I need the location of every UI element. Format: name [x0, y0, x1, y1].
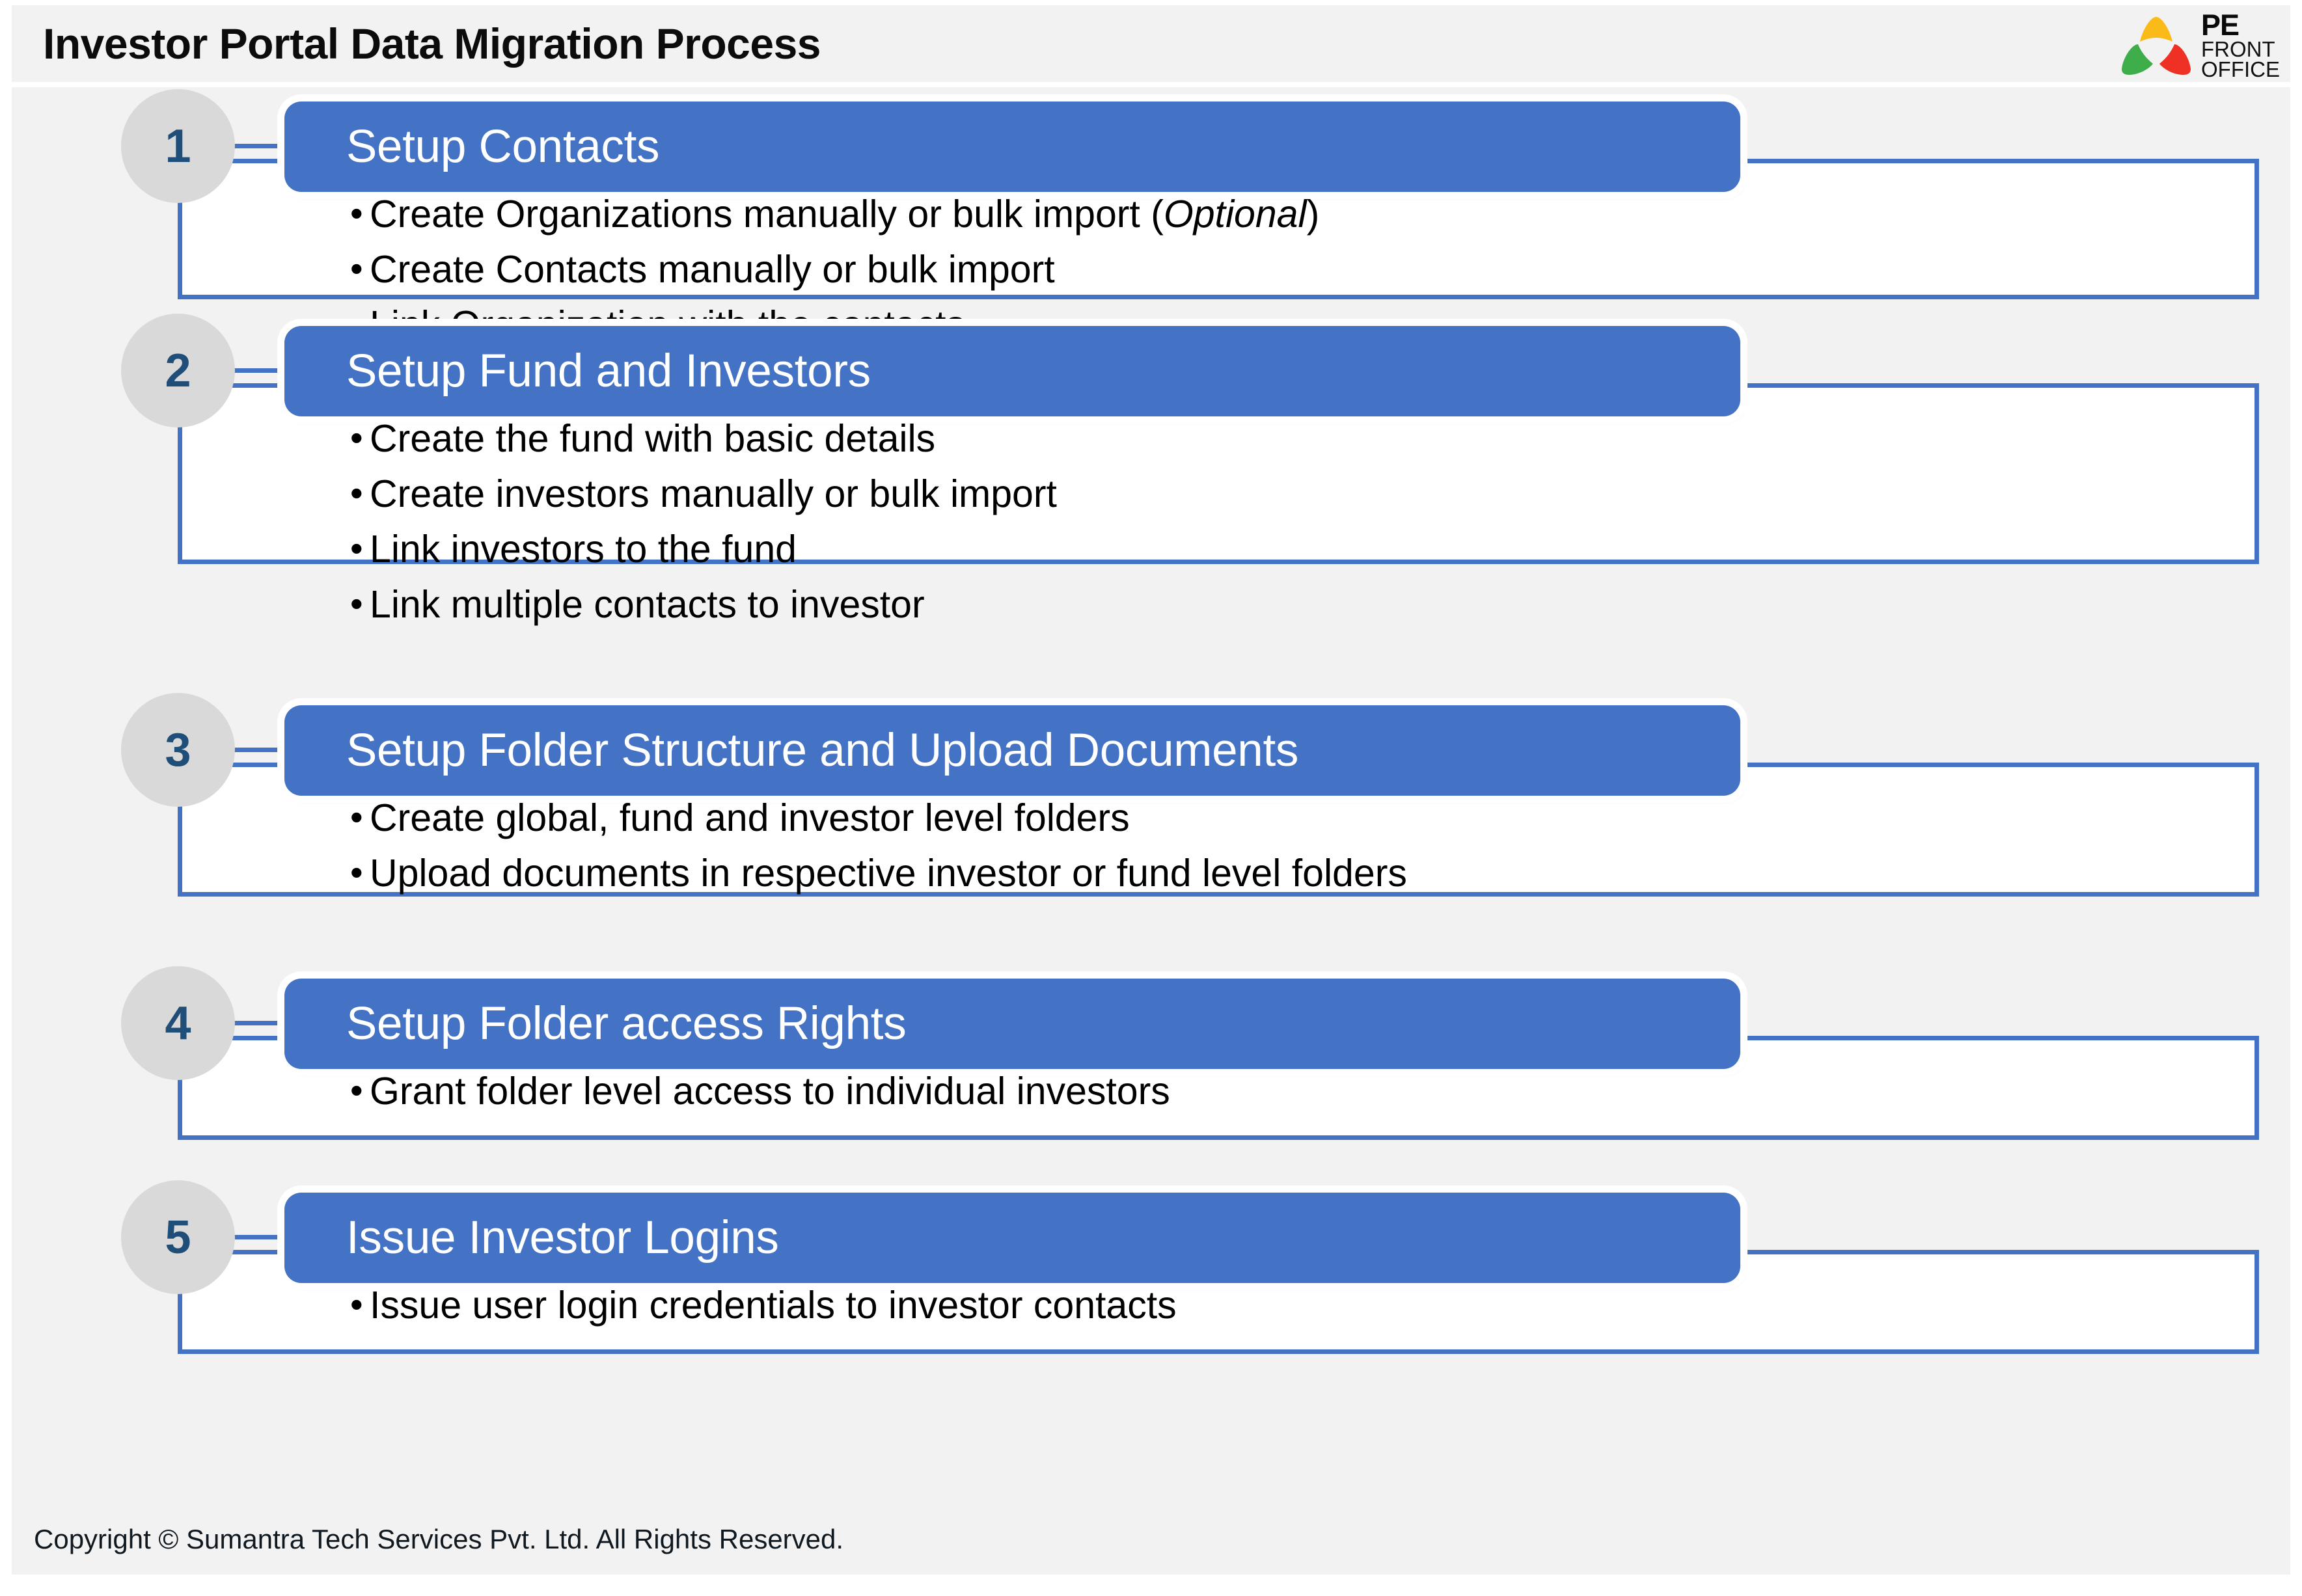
bullet-text: Create the fund with basic details	[370, 420, 935, 458]
step-2-number-badge: 2	[121, 314, 235, 427]
bullet-icon: •	[350, 1286, 370, 1323]
list-item: • Upload documents in respective investo…	[350, 854, 1407, 893]
step-1-number: 1	[165, 123, 191, 170]
step-3-number-badge: 3	[121, 693, 235, 807]
bullet-text: Link investors to the fund	[370, 530, 797, 569]
bullet-text: Upload documents in respective investor …	[370, 854, 1407, 893]
copyright-text: Copyright © Sumantra Tech Services Pvt. …	[34, 1524, 843, 1555]
list-item: • Grant folder level access to individua…	[350, 1072, 1170, 1111]
step-1-title: Setup Contacts	[284, 120, 659, 173]
list-item: • Link multiple contacts to investor	[350, 586, 1057, 624]
bullet-icon: •	[350, 530, 370, 567]
list-item: • Issue user login credentials to invest…	[350, 1286, 1177, 1325]
step-2-number: 2	[165, 347, 191, 394]
page-title: Investor Portal Data Migration Process	[43, 19, 821, 68]
step-3-number: 3	[165, 727, 191, 774]
step-4-number-badge: 4	[121, 966, 235, 1080]
step-4-title: Setup Folder access Rights	[284, 997, 906, 1050]
step-4-header-bar[interactable]: Setup Folder access Rights	[284, 979, 1740, 1069]
bullet-icon: •	[350, 799, 370, 835]
bullet-icon: •	[350, 195, 370, 232]
slide-canvas: Investor Portal Data Migration Process P…	[0, 0, 2302, 1596]
step-2-header-bar[interactable]: Setup Fund and Investors	[284, 326, 1740, 416]
step-5-bullet-list: • Issue user login credentials to invest…	[350, 1286, 1177, 1342]
list-item: • Create Contacts manually or bulk impor…	[350, 250, 1319, 289]
bullet-text: Issue user login credentials to investor…	[370, 1286, 1177, 1325]
bullet-icon: •	[350, 420, 370, 456]
step-4-number: 4	[165, 1000, 191, 1047]
logo-line-pe: PE	[2201, 12, 2280, 39]
step-5-number: 5	[165, 1214, 191, 1261]
bullet-text: Create Organizations manually or bulk im…	[370, 195, 1319, 234]
process-diagram: Setup Contacts 1 • Create Organizations …	[12, 87, 2290, 1504]
step-3-header-bar[interactable]: Setup Folder Structure and Upload Docume…	[284, 705, 1740, 796]
bullet-text: Link multiple contacts to investor	[370, 586, 925, 624]
bullet-icon: •	[350, 475, 370, 511]
step-3-title: Setup Folder Structure and Upload Docume…	[284, 724, 1298, 777]
logo-line-front: FRONT	[2201, 39, 2280, 59]
bullet-icon: •	[350, 1072, 370, 1109]
header-band: Investor Portal Data Migration Process P…	[12, 5, 2290, 82]
step-2-title: Setup Fund and Investors	[284, 345, 871, 398]
bullet-icon: •	[350, 586, 370, 622]
step-5-header-bar[interactable]: Issue Investor Logins	[284, 1193, 1740, 1283]
brand-logo: PE FRONT OFFICE	[2118, 9, 2280, 82]
step-1-header-bar[interactable]: Setup Contacts	[284, 101, 1740, 192]
list-item: • Link investors to the fund	[350, 530, 1057, 569]
step-5-number-badge: 5	[121, 1180, 235, 1294]
bullet-text: Create investors manually or bulk import	[370, 475, 1057, 513]
bullet-text: Grant folder level access to individual …	[370, 1072, 1170, 1111]
bullet-text: Create Contacts manually or bulk import	[370, 250, 1055, 289]
bullet-icon: •	[350, 250, 370, 287]
list-item: • Create investors manually or bulk impo…	[350, 475, 1057, 513]
pe-front-office-logo-icon	[2118, 13, 2195, 78]
list-item: • Create Organizations manually or bulk …	[350, 195, 1319, 234]
logo-wordmark: PE FRONT OFFICE	[2201, 12, 2280, 79]
bullet-icon: •	[350, 854, 370, 891]
list-item: • Create global, fund and investor level…	[350, 799, 1407, 837]
step-5-title: Issue Investor Logins	[284, 1211, 779, 1264]
step-1-number-badge: 1	[121, 89, 235, 203]
bullet-text: Create global, fund and investor level f…	[370, 799, 1130, 837]
step-4-bullet-list: • Grant folder level access to individua…	[350, 1072, 1170, 1128]
step-3-bullet-list: • Create global, fund and investor level…	[350, 799, 1407, 910]
logo-line-office: OFFICE	[2201, 59, 2280, 79]
step-2-bullet-list: • Create the fund with basic details • C…	[350, 420, 1057, 641]
list-item: • Create the fund with basic details	[350, 420, 1057, 458]
footer-band: Copyright © Sumantra Tech Services Pvt. …	[12, 1504, 2290, 1575]
